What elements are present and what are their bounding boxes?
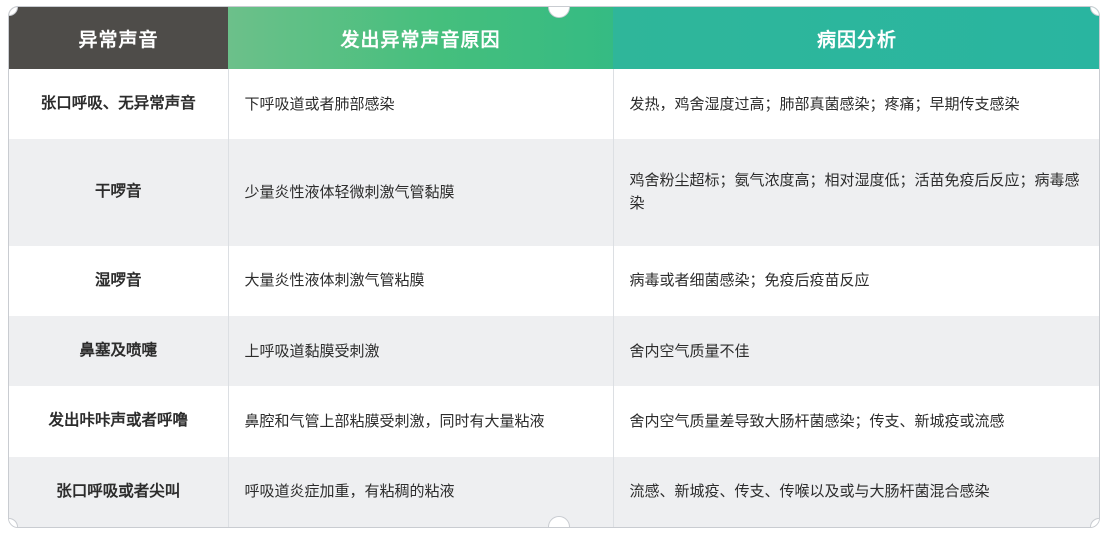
cell-analysis: 发热，鸡舍湿度过高；肺部真菌感染；疼痛；早期传支感染 <box>613 69 1100 139</box>
column-header-analysis: 病因分析 <box>613 7 1100 69</box>
table-card: 异常声音 发出异常声音原因 病因分析 张口呼吸、无异常声音 下呼吸道或者肺部感染… <box>8 6 1100 528</box>
table-container: 异常声音 发出异常声音原因 病因分析 张口呼吸、无异常声音 下呼吸道或者肺部感染… <box>0 0 1108 540</box>
cell-analysis: 舍内空气质量不佳 <box>613 316 1100 386</box>
column-header-sound: 异常声音 <box>9 7 228 69</box>
table-row: 干啰音 少量炎性液体轻微刺激气管黏膜 鸡舍粉尘超标；氨气浓度高；相对湿度低；活苗… <box>9 139 1100 245</box>
table-row: 鼻塞及喷嚏 上呼吸道黏膜受刺激 舍内空气质量不佳 <box>9 316 1100 386</box>
cell-cause: 上呼吸道黏膜受刺激 <box>228 316 613 386</box>
cell-cause: 鼻腔和气管上部粘膜受刺激，同时有大量粘液 <box>228 386 613 456</box>
cell-cause: 大量炎性液体刺激气管粘膜 <box>228 246 613 316</box>
cell-sound: 发出咔咔声或者呼噜 <box>9 386 228 456</box>
cell-analysis: 病毒或者细菌感染；免疫后疫苗反应 <box>613 246 1100 316</box>
cell-analysis: 舍内空气质量差导致大肠杆菌感染；传支、新城疫或流感 <box>613 386 1100 456</box>
table-body: 张口呼吸、无异常声音 下呼吸道或者肺部感染 发热，鸡舍湿度过高；肺部真菌感染；疼… <box>9 69 1100 527</box>
cell-analysis: 流感、新城疫、传支、传喉以及或与大肠杆菌混合感染 <box>613 457 1100 527</box>
abnormal-sound-table: 异常声音 发出异常声音原因 病因分析 张口呼吸、无异常声音 下呼吸道或者肺部感染… <box>9 7 1100 527</box>
cell-cause: 下呼吸道或者肺部感染 <box>228 69 613 139</box>
table-row: 湿啰音 大量炎性液体刺激气管粘膜 病毒或者细菌感染；免疫后疫苗反应 <box>9 246 1100 316</box>
cell-sound: 张口呼吸或者尖叫 <box>9 457 228 527</box>
cell-sound: 鼻塞及喷嚏 <box>9 316 228 386</box>
cell-sound: 张口呼吸、无异常声音 <box>9 69 228 139</box>
cell-analysis: 鸡舍粉尘超标；氨气浓度高；相对湿度低；活苗免疫后反应；病毒感染 <box>613 139 1100 245</box>
cell-cause: 少量炎性液体轻微刺激气管黏膜 <box>228 139 613 245</box>
table-row: 张口呼吸、无异常声音 下呼吸道或者肺部感染 发热，鸡舍湿度过高；肺部真菌感染；疼… <box>9 69 1100 139</box>
cell-sound: 湿啰音 <box>9 246 228 316</box>
table-row: 发出咔咔声或者呼噜 鼻腔和气管上部粘膜受刺激，同时有大量粘液 舍内空气质量差导致… <box>9 386 1100 456</box>
cell-sound: 干啰音 <box>9 139 228 245</box>
